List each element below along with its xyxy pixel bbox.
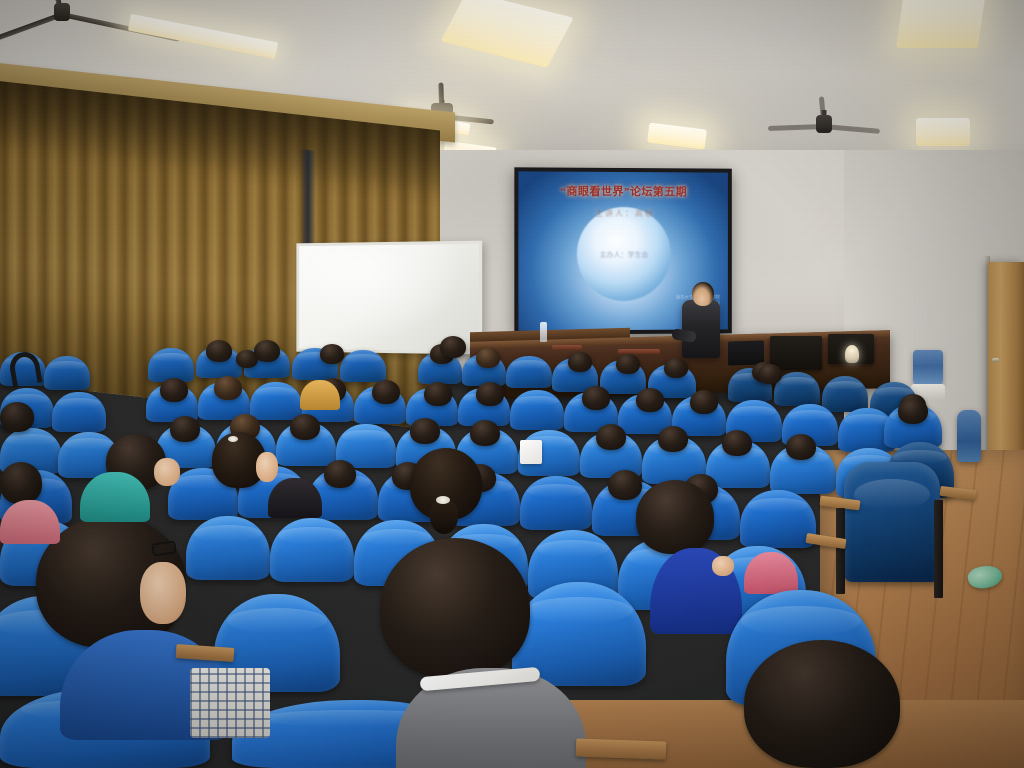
lecture-hall-photo: “商眼看世界”论坛第五期 主 讲 人 ： 高 敏 主办人：学生会 清华大学经济管… (0, 0, 1024, 768)
slide-subtitle-secondary: 主办人：学生会 (518, 250, 728, 260)
audience-member (898, 398, 928, 424)
audience-member (786, 434, 816, 460)
slide-title: “商眼看世界”论坛第五期 (518, 182, 728, 199)
seat-leg (934, 500, 943, 598)
auditorium-seat[interactable] (250, 382, 302, 420)
water-bottle (957, 410, 981, 462)
audience-member (636, 388, 664, 412)
audience-member (290, 414, 320, 440)
desk-lamp (845, 345, 859, 363)
ceiling-fan (822, 122, 826, 126)
audience-member (658, 426, 688, 452)
auditorium-seat[interactable] (270, 518, 354, 582)
audience-member (636, 480, 714, 554)
auditorium-seat[interactable] (510, 390, 564, 430)
fluorescent-ceiling-light (916, 118, 970, 146)
ponytail (430, 500, 458, 534)
audience-hand (712, 556, 734, 576)
presenter (682, 300, 720, 358)
audience-member (476, 382, 504, 406)
audience-member (476, 348, 500, 368)
auditorium-seat[interactable] (844, 462, 940, 582)
audience-clothing (190, 668, 270, 738)
water-dispenser (913, 350, 943, 386)
audience-torso (300, 380, 340, 410)
audience-member (608, 470, 642, 500)
audience-member (160, 378, 188, 402)
audience-member (410, 418, 440, 444)
audience-member (596, 424, 626, 450)
audience-member (722, 430, 752, 456)
water-bottle (540, 322, 547, 342)
desk-monitor (770, 336, 822, 370)
audience-member (582, 386, 610, 410)
audience-member (236, 350, 258, 368)
auditorium-seat[interactable] (822, 376, 868, 412)
hair-tie (436, 496, 450, 504)
fan-hub (54, 3, 70, 21)
audience-member (0, 402, 34, 432)
audience-member (170, 416, 200, 442)
auditorium-seat[interactable] (148, 348, 194, 382)
auditorium-seat[interactable] (520, 476, 592, 530)
auditorium-seat[interactable] (506, 356, 552, 388)
auditorium-seat[interactable] (340, 350, 386, 382)
exit-door[interactable] (988, 262, 1024, 472)
desk-object (618, 349, 660, 354)
fan-hub (816, 115, 832, 133)
audience-member (440, 336, 466, 358)
audience-face (140, 562, 186, 624)
audience-member (664, 358, 688, 378)
paper-sheet (520, 440, 542, 464)
audience-member (470, 420, 500, 446)
audience-member (690, 390, 718, 414)
fluorescent-ceiling-light (896, 0, 986, 48)
audience-member (616, 354, 640, 374)
audience-member (0, 462, 42, 504)
audience-member (206, 340, 232, 362)
audience-member (372, 380, 400, 404)
auditorium-seat[interactable] (740, 490, 816, 548)
door-handle-icon[interactable] (992, 358, 999, 362)
slide-subtitle: 主 讲 人 ： 高 敏 (518, 208, 728, 220)
audience-member (758, 364, 782, 384)
auditorium-seat[interactable] (52, 392, 106, 432)
audience-member (320, 344, 344, 364)
audience-member (380, 538, 530, 678)
presenter-head (692, 282, 714, 306)
ceiling-fan (60, 10, 64, 14)
audience-member (214, 376, 242, 400)
auditorium-seat[interactable] (186, 516, 270, 580)
audience-member (744, 640, 900, 768)
seat-tablet-arm (576, 738, 667, 759)
audience-face (256, 452, 278, 482)
audience-face (154, 458, 180, 486)
auditorium-seat[interactable] (44, 356, 90, 390)
seat-leg (836, 508, 845, 594)
hair-tie (228, 436, 238, 442)
audience-member (424, 382, 452, 406)
audience-member (568, 352, 592, 372)
desk-object (552, 345, 582, 350)
audience-member (324, 460, 356, 488)
